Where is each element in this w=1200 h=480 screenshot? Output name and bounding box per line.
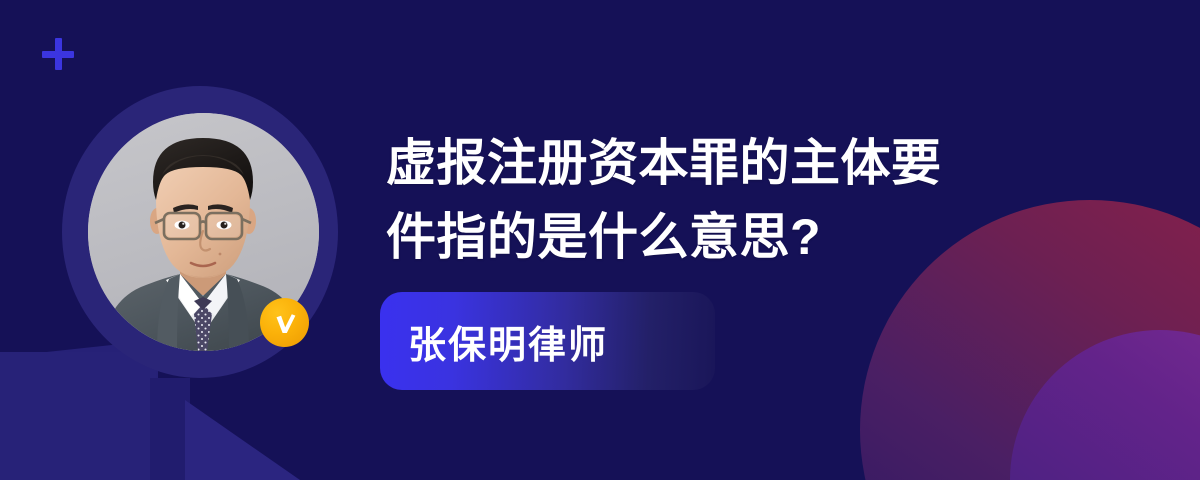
lawyer-name-chip[interactable]: 张保明律师: [380, 292, 715, 390]
check-v-glyph: [271, 309, 299, 337]
decorative-triangle: [185, 400, 300, 480]
page-title: 虚报注册资本罪的主体要 件指的是什么意思?: [386, 126, 1026, 274]
lawyer-question-banner: 虚报注册资本罪的主体要 件指的是什么意思? 张保明律师: [0, 0, 1200, 480]
decorative-purple-circle: [1010, 330, 1200, 480]
question-block: 虚报注册资本罪的主体要 件指的是什么意思?: [386, 126, 1026, 274]
lawyer-name-label: 张保明律师: [380, 314, 608, 369]
decorative-middle-wedge: [150, 378, 190, 480]
plus-icon-horizontal-bar: [42, 51, 74, 58]
verified-badge-icon: [260, 298, 309, 347]
plus-icon-vertical-bar: [55, 38, 62, 70]
avatar[interactable]: [62, 86, 338, 378]
plus-icon: [42, 38, 74, 70]
